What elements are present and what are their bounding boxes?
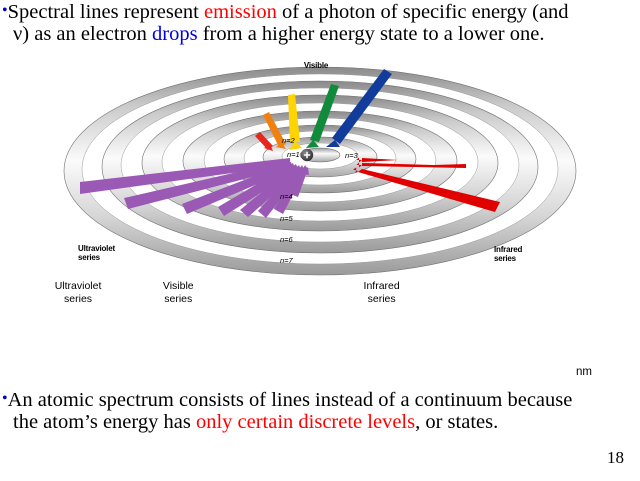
nucleus xyxy=(301,149,313,161)
top-bullet-line1-part2: of a photon of specific energy (and xyxy=(277,1,569,23)
orbit-label-n6: n=6 xyxy=(280,235,293,244)
bottom-bullet-line2-part2: , or states. xyxy=(415,411,498,433)
spectrum-svg xyxy=(0,276,640,386)
figure-uv-line2: series xyxy=(78,253,100,262)
orbit-label-n2: n=2 xyxy=(282,136,295,145)
spectrum-bar-container xyxy=(0,276,640,386)
orbit-label-n3: n=3 xyxy=(345,151,358,160)
top-bullet-line2: ν) as an electron drops from a higher en… xyxy=(13,23,640,45)
top-bullet-text: •Spectral lines represent emission of a … xyxy=(2,1,640,45)
page-number: 18 xyxy=(607,448,624,468)
bottom-bullet-line2: the atom’s energy has only certain discr… xyxy=(13,411,640,433)
orbit-label-n5: n=5 xyxy=(280,214,293,223)
slide-canvas: •Spectral lines represent emission of a … xyxy=(0,0,640,481)
orbit-label-n7: n=7 xyxy=(280,256,293,265)
top-bullet-line2-part1: ν) as an electron xyxy=(13,23,152,45)
bohr-orbit-diagram: Visible Ultraviolet series Infrared seri… xyxy=(62,62,578,280)
bottom-bullet-emphasis-levels: only certain discrete levels xyxy=(196,411,415,433)
figure-ir-line1: Infrared xyxy=(494,245,522,254)
top-bullet-emphasis-emission: emission xyxy=(204,1,277,23)
top-bullet-line1-part1: Spectral lines represent xyxy=(8,1,204,23)
bottom-bullet-text: •An atomic spectrum consists of lines in… xyxy=(2,389,640,433)
figure-uv-line1: Ultraviolet xyxy=(78,244,115,253)
bottom-bullet-line1: An atomic spectrum consists of lines ins… xyxy=(8,389,573,411)
figure-ultraviolet-series-label: Ultraviolet series xyxy=(78,244,140,262)
figure-infrared-series-label: Infrared series xyxy=(494,245,556,263)
top-bullet-emphasis-drops: drops xyxy=(152,23,198,45)
emission-spectrum-chart: Ultraviolet series Visible series Infrar… xyxy=(0,276,640,386)
top-bullet-line2-part2: from a higher energy state to a lower on… xyxy=(198,23,545,45)
orbit-shells xyxy=(64,67,576,275)
orbit-label-n1: n=1 xyxy=(287,150,300,159)
orbit-label-n4: n=4 xyxy=(280,192,293,201)
spectrum-unit-label: nm xyxy=(576,366,592,378)
figure-visible-label: Visible xyxy=(286,61,346,70)
figure-ir-line2: series xyxy=(494,254,516,263)
bottom-bullet-line2-part1: the atom’s energy has xyxy=(13,411,196,433)
